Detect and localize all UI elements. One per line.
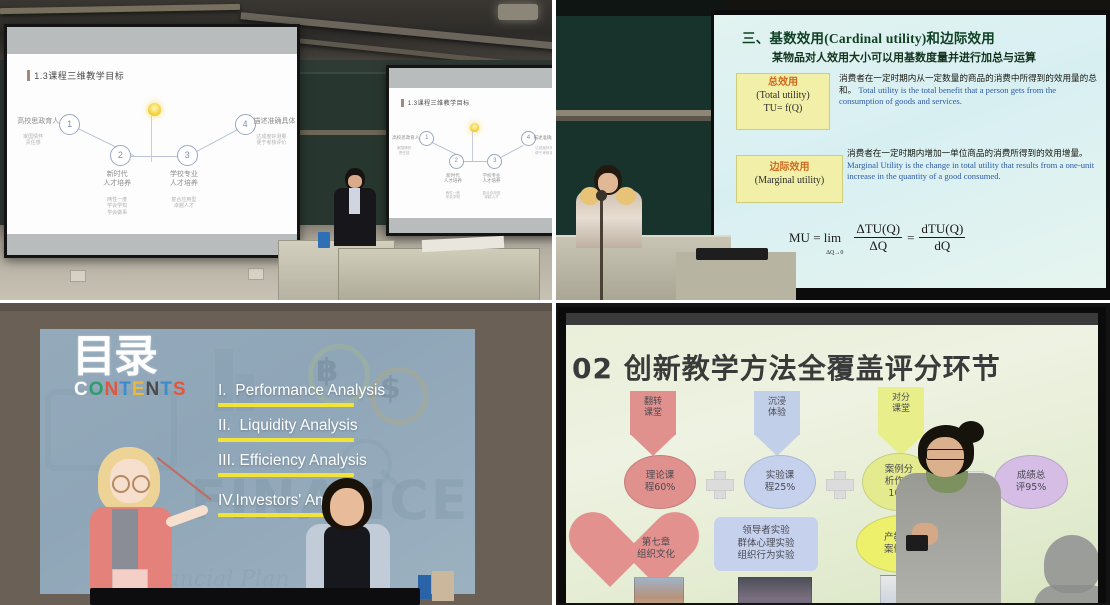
bulb-stem	[472, 131, 473, 162]
laptop	[696, 248, 768, 260]
board-top-edge	[556, 0, 726, 16]
face	[330, 488, 364, 526]
presenter-figure	[332, 168, 378, 246]
marginal-utility-box: 边际效用 (Marginal utility)	[736, 155, 843, 203]
node-label-3: 学校专业人才培养	[152, 171, 216, 189]
node-sub-3: 复合应用型卓越人才	[475, 191, 509, 200]
formula-limit: ΔQ→0	[826, 250, 843, 256]
step-node-2: 2	[449, 154, 464, 169]
slide-canvas: 1.3课程三维教学目标 1 高校思政育人 家国情怀责任感 2 新时代人才培养 两…	[7, 54, 297, 234]
contents-title-cn: 目录	[72, 335, 156, 379]
formula-fraction-1: ΔTU(Q) ΔQ	[854, 221, 902, 254]
mu-formula: MU = lim ΔQ→0 ΔTU(Q) ΔQ = dTU(Q) dQ	[789, 221, 965, 254]
formula-equals: =	[907, 230, 914, 246]
para2-cn: 消费者在一定时期内增加一单位商品的消费所得到的效用增量。	[847, 148, 1088, 158]
box-experiments: 领导者实验群体心理实验组织行为实验	[714, 517, 818, 571]
glasses-icon	[926, 449, 966, 460]
node-label-2: 新时代人才培养	[434, 173, 471, 184]
hair-bun	[958, 421, 984, 443]
frac1-numerator: ΔTU(Q)	[854, 221, 902, 238]
letter-s: S	[173, 379, 187, 401]
marginal-utility-text: 消费者在一定时期内增加一单位商品的消费所得到的效用增量。 Marginal Ut…	[847, 148, 1099, 183]
campus-photo	[634, 577, 684, 603]
teaching-method-slide: 02 创新教学方法全覆盖评分环节 翻转课堂 沉浸体验 对分课堂 理论课程60% …	[566, 325, 1098, 603]
node-sub-3: 复合应用型卓越人才	[155, 197, 213, 210]
title-bar-accent	[401, 99, 404, 107]
letter-t: T	[119, 379, 132, 401]
microphone-stand	[600, 192, 603, 300]
panel-bottom-right: 02 创新教学方法全覆盖评分环节 翻转课堂 沉浸体验 对分课堂 理论课程60% …	[556, 303, 1110, 605]
toc-item-2[interactable]: II. Liquidity Analysis	[218, 417, 358, 435]
presenter-figure	[576, 165, 642, 247]
wall-socket	[248, 268, 264, 280]
letter-e: E	[132, 379, 146, 401]
heart-label: 第七章组织文化	[610, 537, 702, 562]
panel-top-right: 三、基数效用(Cardinal utility)和边际效用 某物品对人效用大小可…	[556, 0, 1110, 300]
node-label-1: 高校思政育人	[1, 118, 59, 127]
letter-t2: T	[160, 379, 173, 401]
letter-n: N	[105, 379, 120, 401]
plus-operator-1	[706, 471, 732, 497]
chalk-rail-shadow	[556, 116, 726, 121]
toc-num-2: II.	[218, 417, 231, 434]
box-object	[432, 571, 454, 601]
toc-label-1: Performance Analysis	[235, 382, 385, 399]
letter-n2: N	[146, 379, 161, 401]
slide-title: 1.3课程三维教学目标	[401, 98, 470, 107]
node-sub-4: 达成度好测量便于考核评价	[256, 134, 302, 147]
node-label-1: 高校思政育人	[382, 135, 419, 141]
wall-socket	[70, 270, 86, 282]
projection-screen-left: 1.3课程三维教学目标 1 高校思政育人 家国情怀责任感 2 新时代人才培养 两…	[4, 24, 300, 258]
face	[348, 175, 362, 188]
formula-lhs: MU = lim	[789, 230, 841, 246]
screen-top-bar	[7, 27, 297, 54]
lightbulb-icon	[148, 103, 161, 116]
node-sub-1: 家国情怀责任感	[10, 134, 56, 147]
projection-screen-right: 1.3课程三维教学目标 1 高校思政育人 家国情怀责任感 2 新时代人才培养 两…	[386, 65, 552, 236]
shirt	[349, 188, 360, 214]
step-node-1: 1	[59, 114, 80, 135]
slide-subheading: 某物品对人效用大小可以用基数度量并进行加总与运算	[772, 49, 1036, 65]
toc-label-2: Liquidity Analysis	[240, 417, 358, 434]
glasses-left	[112, 475, 130, 493]
arrow-tip	[754, 434, 800, 456]
node-sub-2: 两性一度学会学知	[436, 191, 470, 200]
panel-top-left: 1.3课程三维教学目标 1 高校思政育人 家国情怀责任感 2 新时代人才培养 两…	[0, 0, 552, 300]
para1-en: Total utility is the total benefit that …	[839, 85, 1056, 107]
toc-num-4: IV.	[218, 492, 236, 509]
front-desk	[90, 588, 420, 605]
step-node-2: 2	[110, 145, 131, 166]
step-node-3: 3	[177, 145, 198, 166]
oval-theory-course: 理论课程60%	[624, 455, 696, 509]
formula-fraction-2: dTU(Q) dQ	[919, 221, 965, 254]
economics-slide: 三、基数效用(Cardinal utility)和边际效用 某物品对人效用大小可…	[714, 15, 1106, 288]
water-cup	[318, 232, 330, 248]
toc-item-3[interactable]: III. Efficiency Analysis	[218, 452, 367, 470]
toc-label-3: Efficiency Analysis	[240, 452, 367, 469]
panel-bottom-left: FINANCE Financial Plan ฿ $ 目录 CONTENTS	[0, 303, 552, 605]
arrow-immersive-experience: 沉浸体验	[754, 391, 800, 435]
para2-en: Marginal Utility is the change in total …	[847, 160, 1094, 182]
node-sub-2: 两性一度学会学知学会做事	[88, 197, 146, 217]
box1-cn: 总效用	[737, 77, 829, 90]
screen-top-bar	[389, 68, 552, 88]
audience-silhouette	[1034, 535, 1098, 603]
letter-c: C	[74, 379, 89, 401]
node-sub-4: 达成度好测量便于考核评价	[535, 146, 552, 155]
teacher-presenter	[896, 425, 1001, 603]
wall-top-strip	[0, 303, 552, 311]
node-label-4: 描述准确具体	[254, 118, 306, 127]
step-node-4: 4	[235, 114, 256, 135]
toc-underline-3	[218, 473, 354, 477]
microphone-head-icon	[596, 190, 607, 201]
teacher-desk	[338, 248, 540, 300]
frac1-denominator: ΔQ	[854, 238, 902, 254]
student-presenter	[300, 478, 395, 605]
screen-bottom-bar	[7, 234, 297, 255]
frac2-denominator: dQ	[919, 238, 965, 254]
contents-slide: FINANCE Financial Plan ฿ $ 目录 CONTENTS	[40, 329, 475, 594]
slide-title: 02 创新教学方法全覆盖评分环节	[572, 347, 1001, 387]
letter-o: O	[89, 379, 105, 401]
toc-num-3: III.	[218, 452, 235, 469]
classroom-photo	[738, 577, 812, 603]
four-panel-grid: 1.3课程三维教学目标 1 高校思政育人 家国情怀责任感 2 新时代人才培养 两…	[0, 0, 1110, 605]
oval-total-score: 成绩总评95%	[994, 455, 1068, 509]
step-node-1: 1	[419, 131, 434, 146]
contents-title-en: CONTENTS	[74, 379, 187, 401]
box2-en: (Marginal utility)	[737, 175, 842, 188]
silhouette-shoulders	[1034, 585, 1098, 603]
oval-lab-course: 实验课程25%	[744, 455, 816, 509]
node-sub-1: 家国情怀责任感	[389, 146, 419, 155]
toc-underline-1	[218, 403, 354, 407]
slide-heading: 三、基数效用(Cardinal utility)和边际效用	[742, 27, 995, 47]
step-node-3: 3	[487, 154, 502, 169]
fur-collar-right	[616, 187, 636, 205]
total-utility-box: 总效用 (Total utility) TU= f(Q)	[736, 73, 830, 130]
toc-num-1: I.	[218, 382, 227, 399]
arrow-tip	[630, 434, 676, 456]
node-label-2: 新时代人才培养	[85, 171, 149, 189]
node-label-3: 学校专业人才培养	[473, 173, 510, 184]
horizontal-divider	[0, 300, 1110, 303]
slide-canvas-duplicate: 1.3课程三维教学目标 1 高校思政育人 家国情怀责任感 2 新时代人才培养 两…	[389, 88, 552, 218]
arrow-flipped-classroom: 翻转课堂	[630, 391, 676, 435]
glasses-right	[132, 475, 150, 493]
screen-bottom-bar	[389, 218, 552, 233]
bg-bar	[215, 349, 233, 411]
ceiling-light-icon	[498, 4, 538, 20]
toc-item-1[interactable]: I. Performance Analysis	[218, 382, 385, 400]
title-bar-accent	[27, 70, 30, 81]
slide-title: 1.3课程三维教学目标	[27, 69, 124, 82]
box1-formula: TU= f(Q)	[737, 103, 829, 116]
toc-underline-2	[218, 438, 354, 442]
clicker-device	[906, 535, 928, 551]
node-label-4: 描述准确具体	[533, 135, 552, 141]
box2-cn: 边际效用	[737, 162, 842, 175]
box1-en: (Total utility)	[737, 90, 829, 103]
plus-operator-2	[826, 471, 852, 497]
frac2-numerator: dTU(Q)	[919, 221, 965, 238]
total-utility-text: 消费者在一定时期内从一定数量的商品的消费中所得到的效用量的总和。 Total u…	[839, 73, 1097, 108]
